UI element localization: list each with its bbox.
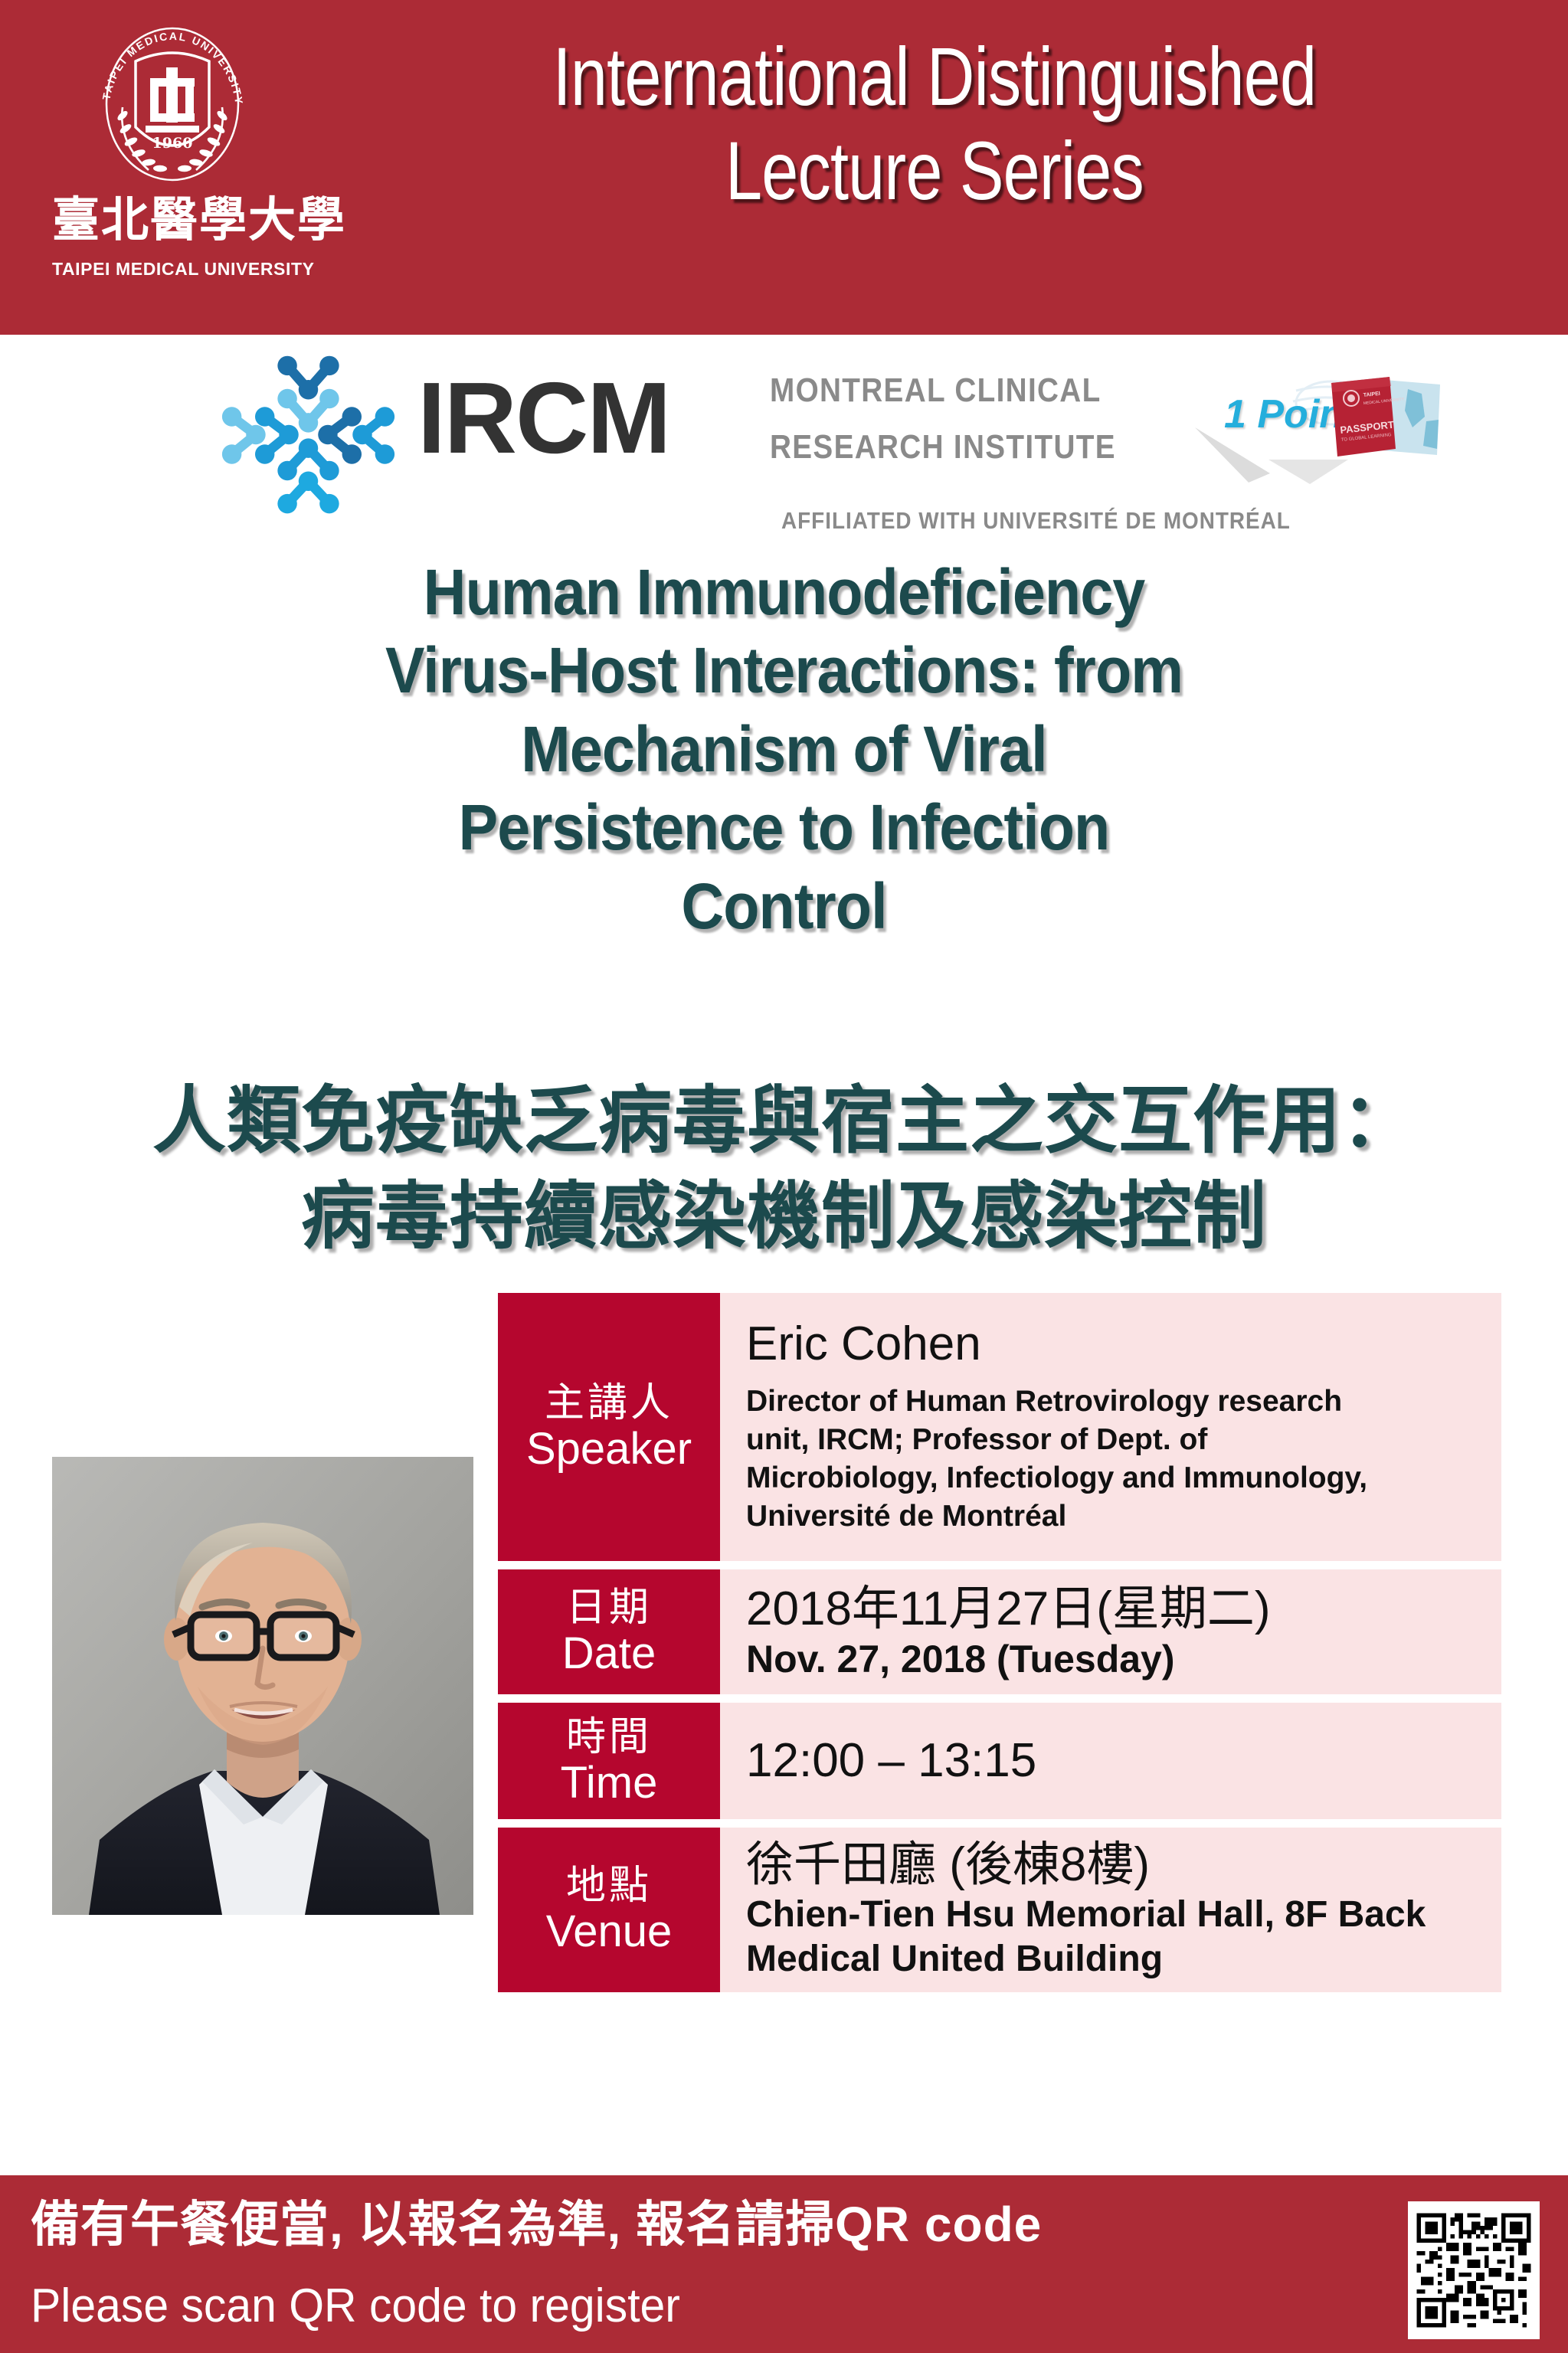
row-value-venue: 徐千田廳 (後棟8樓) Chien-Tien Hsu Memorial Hall… (720, 1828, 1501, 1992)
tmu-name-cn: 臺北醫學大學 (52, 196, 297, 244)
row-label-venue-cn: 地點 (566, 1864, 652, 1908)
date-value-en: Nov. 27, 2018 (Tuesday) (746, 1636, 1478, 1682)
lecture-title-en-line-2: Virus-Host Interactions: from (91, 631, 1478, 709)
series-title-line-1: International Distinguished (444, 29, 1425, 123)
row-label-speaker-cn: 主講人 (545, 1381, 673, 1425)
poster-footer: 備有午餐便當, 以報名為準, 報名請掃QR code Please scan Q… (0, 2175, 1568, 2353)
venue-value-en-line-1: Chien-Tien Hsu Memorial Hall, 8F Back (746, 1893, 1478, 1938)
row-value-speaker: Eric Cohen Director of Human Retrovirolo… (720, 1293, 1501, 1561)
row-value-date: 2018年11月27日(星期二) Nov. 27, 2018 (Tuesday) (720, 1569, 1501, 1694)
row-label-venue: 地點 Venue (498, 1828, 720, 1992)
lecture-title-en: Human Immunodeficiency Virus-Host Intera… (91, 553, 1478, 945)
table-row-time: 時間 Time 12:00 – 13:15 (498, 1703, 1501, 1819)
passport-point-badge: 1 Point TAIPEI MEDICAL UNIVERSITY PASSPO… (1195, 368, 1440, 521)
tmu-logo: TAIPEI MEDICAL UNIVERSITY 1960 (38, 6, 299, 328)
ircm-wordmark: IRCM (417, 368, 669, 469)
speaker-photo (52, 1457, 473, 1915)
speaker-affiliation-line-4: Université de Montréal (746, 1497, 1478, 1536)
venue-value-cn: 徐千田廳 (後棟8樓) (746, 1838, 1478, 1893)
table-row-date: 日期 Date 2018年11月27日(星期二) Nov. 27, 2018 (… (498, 1569, 1501, 1694)
time-value: 12:00 – 13:15 (746, 1733, 1478, 1788)
footer-notice-cn: 備有午餐便當, 以報名為準, 報名請掃QR code (31, 2200, 1042, 2249)
poster-header: TAIPEI MEDICAL UNIVERSITY 1960 (0, 0, 1568, 335)
footer-notice-en: Please scan QR code to register (31, 2283, 680, 2330)
date-value-cn: 2018年11月27日(星期二) (746, 1582, 1478, 1637)
passport-icon: TAIPEI MEDICAL UNIVERSITY PASSPORT TO GL… (1325, 375, 1440, 463)
lecture-title-en-line-4: Persistence to Infection (91, 788, 1478, 866)
svg-text:1960: 1960 (152, 135, 193, 152)
lecture-title-en-line-5: Control (91, 867, 1478, 945)
event-info-table: 主講人 Speaker Eric Cohen Director of Human… (498, 1293, 1501, 2001)
ircm-subtitle-line-1: MONTREAL CLINICAL (770, 374, 1102, 407)
row-label-date: 日期 Date (498, 1569, 720, 1694)
row-label-date-en: Date (562, 1630, 656, 1678)
registration-qr-code[interactable] (1408, 2201, 1540, 2339)
tmu-name-en: TAIPEI MEDICAL UNIVERSITY (52, 259, 297, 280)
series-title-line-2: Lecture Series (444, 123, 1425, 218)
lecture-title-en-line-3: Mechanism of Viral (91, 710, 1478, 788)
row-label-date-cn: 日期 (566, 1586, 652, 1630)
row-label-time-en: Time (561, 1759, 658, 1808)
row-label-time-cn: 時間 (566, 1715, 652, 1759)
lecture-title-en-line-1: Human Immunodeficiency (91, 553, 1478, 631)
speaker-name: Eric Cohen (746, 1318, 1478, 1370)
lecture-title-cn-line-1: 人類免疫缺乏病毒與宿主之交互作用： (31, 1074, 1537, 1170)
speaker-affiliation-line-3: Microbiology, Infectiology and Immunolog… (746, 1459, 1478, 1497)
table-row-venue: 地點 Venue 徐千田廳 (後棟8樓) Chien-Tien Hsu Memo… (498, 1828, 1501, 1992)
poster-series-title: International Distinguished Lecture Seri… (444, 29, 1425, 218)
row-label-speaker-en: Speaker (526, 1425, 692, 1474)
row-label-venue-en: Venue (546, 1908, 673, 1956)
row-value-time: 12:00 – 13:15 (720, 1703, 1501, 1819)
lecture-title-cn-line-2: 病毒持續感染機制及感染控制 (31, 1170, 1537, 1265)
venue-value-en-line-2: Medical United Building (746, 1937, 1478, 1982)
speaker-affiliation-line-2: unit, IRCM; Professor of Dept. of (746, 1421, 1478, 1459)
ircm-molecule-icon (218, 345, 398, 525)
row-label-time: 時間 Time (498, 1703, 720, 1819)
ircm-subtitle-line-2: RESEARCH INSTITUTE (770, 430, 1116, 464)
tmu-crest-icon: TAIPEI MEDICAL UNIVERSITY 1960 (92, 14, 253, 201)
speaker-affiliation-line-1: Director of Human Retrovirology research (746, 1383, 1478, 1421)
row-label-speaker: 主講人 Speaker (498, 1293, 720, 1561)
table-row-speaker: 主講人 Speaker Eric Cohen Director of Human… (498, 1293, 1501, 1561)
lecture-title-cn: 人類免疫缺乏病毒與宿主之交互作用： 病毒持續感染機制及感染控制 (31, 1074, 1537, 1265)
